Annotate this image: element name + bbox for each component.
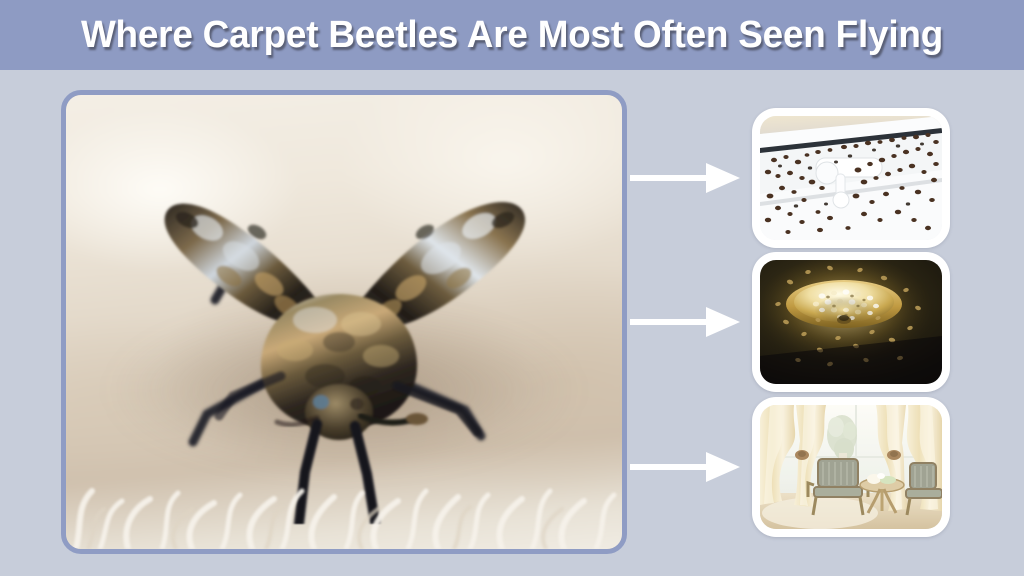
arrow-to-curtained-room: arrow-right-icon <box>630 449 742 485</box>
arrow-right-icon: arrow-right-icon <box>630 340 631 341</box>
window-sill-scene <box>760 116 942 240</box>
page-title: Where Carpet Beetles Are Most Often Seen… <box>15 0 1008 70</box>
carpet-fibers <box>66 429 622 549</box>
thumbnail-window-sill-caption: White window sill and frame littered wit… <box>760 240 761 241</box>
infographic-root: Where Carpet Beetles Are Most Often Seen… <box>0 0 1024 576</box>
arrow-right-icon: arrow-right-icon <box>630 485 631 486</box>
thumbnail-ceiling-light: Glowing ceiling dome light on a dark cei… <box>752 252 950 392</box>
ceiling-light-scene <box>760 260 942 384</box>
thumbnail-curtained-room-caption: Sunlit room with cream tied-back curtain… <box>760 529 761 530</box>
thumbnail-ceiling-light-image <box>760 260 942 384</box>
thumbnail-window-sill-image <box>760 116 942 240</box>
arrow-to-ceiling-light: arrow-right-icon <box>630 304 742 340</box>
thumbnail-curtained-room: Sunlit room with cream tied-back curtain… <box>752 397 950 537</box>
curtained-room-scene <box>760 405 942 529</box>
hero-photo-frame: Carpet beetle in flight with open wing c… <box>61 90 627 554</box>
thumbnail-window-sill: White window sill and frame littered wit… <box>752 108 950 248</box>
arrow-right-icon: arrow-right-icon <box>630 196 631 197</box>
thumbnail-ceiling-light-caption: Glowing ceiling dome light on a dark cei… <box>760 384 761 385</box>
thumbnail-curtained-room-image <box>760 405 942 529</box>
arrow-to-window-sill: arrow-right-icon <box>630 160 742 196</box>
carpet-beetle-in-flight-photo <box>66 95 622 549</box>
